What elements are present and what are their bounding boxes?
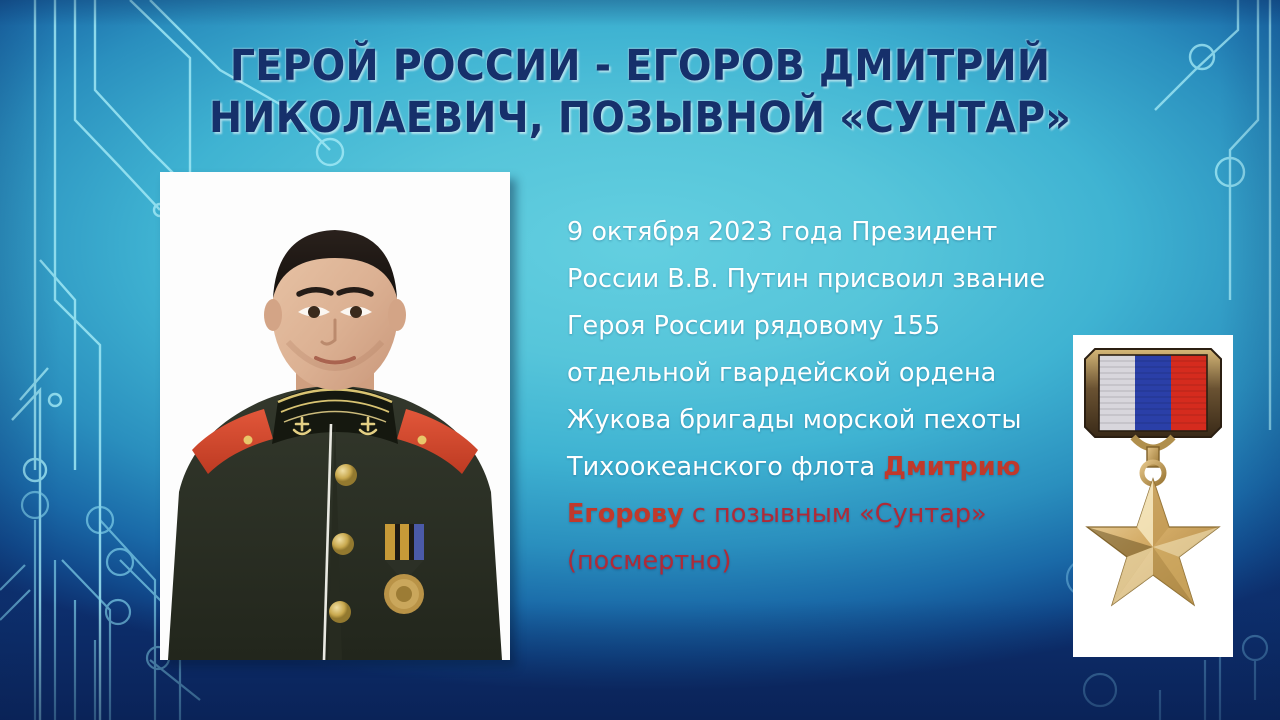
gold-star-medal-image (1073, 335, 1233, 657)
page-title: ГЕРОЙ РОССИИ - ЕГОРОВ ДМИТРИЙ НИКОЛАЕВИЧ… (162, 40, 1119, 144)
medal-illustration (1073, 335, 1233, 657)
body-paragraph: 9 октября 2023 года Президент России В.В… (567, 209, 1072, 585)
body-text-plain: 9 октября 2023 года Президент России В.В… (567, 217, 1045, 482)
title-line-1: ГЕРОЙ РОССИИ - ЕГОРОВ ДМИТРИЙ (162, 40, 1119, 92)
title-line-2: НИКОЛАЕВИЧ, ПОЗЫВНОЙ «СУНТАР» (162, 92, 1119, 144)
portrait-illustration (160, 172, 510, 660)
soldier-portrait-photo (160, 172, 510, 660)
slide-canvas: ГЕРОЙ РОССИИ - ЕГОРОВ ДМИТРИЙ НИКОЛАЕВИЧ… (0, 0, 1280, 720)
